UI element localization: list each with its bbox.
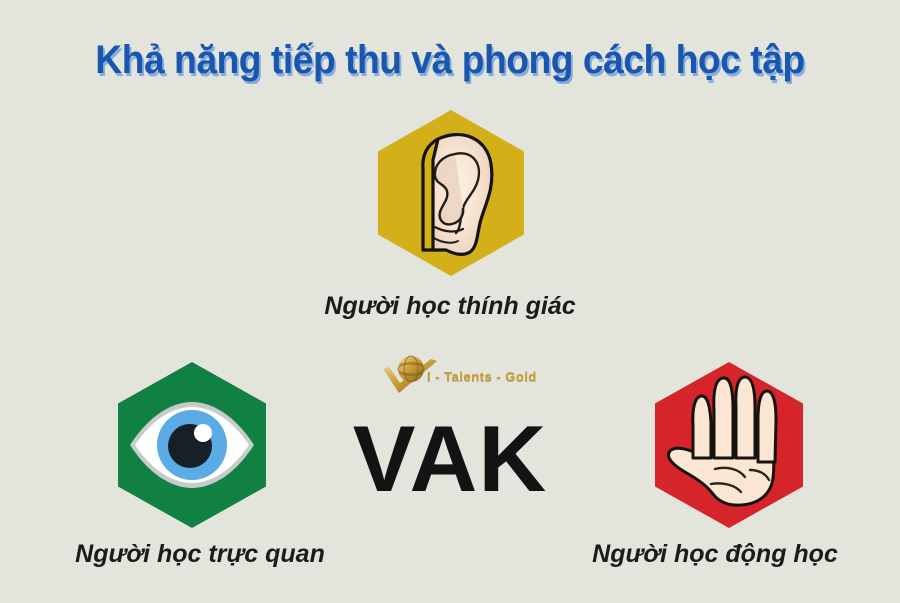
ear-icon xyxy=(378,110,524,276)
caption-visual: Người học trực quan xyxy=(0,540,400,569)
vak-acronym: VAK xyxy=(0,412,900,506)
page-title: Khả năng tiếp thu và phong cách học tập xyxy=(32,38,869,83)
watermark-logo: I - Talents - Gold xyxy=(375,355,535,397)
caption-kinesthetic: Người học động học xyxy=(530,540,900,569)
caption-auditory: Người học thính giác xyxy=(0,292,900,321)
hex-tile-auditory[interactable] xyxy=(378,110,524,276)
infographic-canvas: Khả năng tiếp thu và phong cách học tập … xyxy=(0,0,900,603)
watermark-text: I - Talents - Gold xyxy=(427,369,537,384)
